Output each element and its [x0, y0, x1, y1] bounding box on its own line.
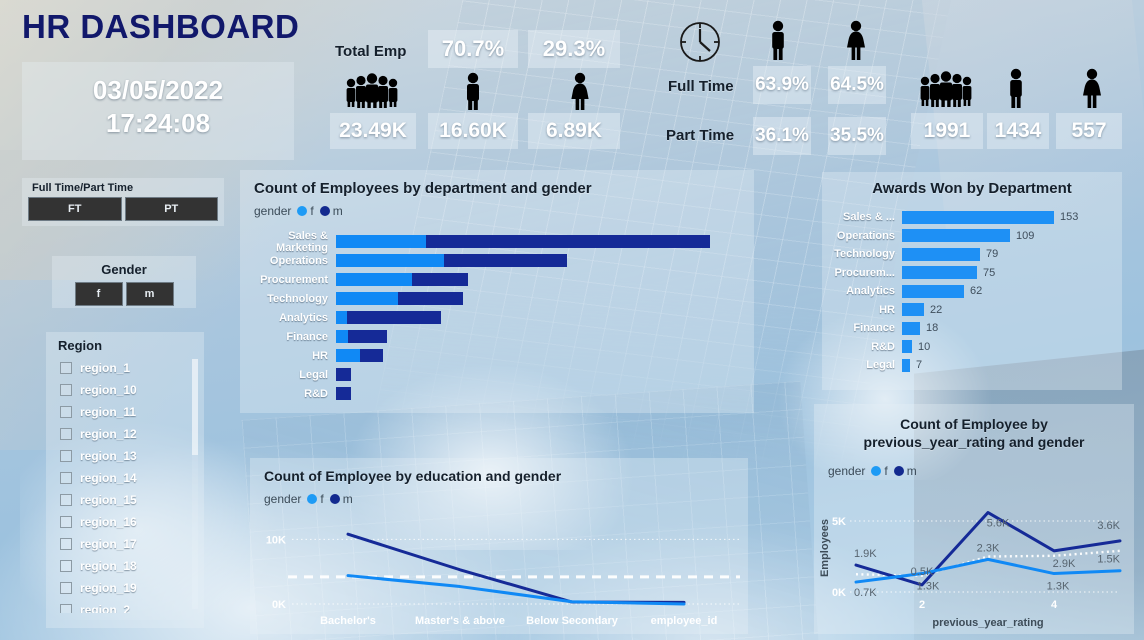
chart-awards-bar [902, 211, 1054, 224]
svg-text:1.3K: 1.3K [1047, 581, 1070, 593]
kpi-total-female: 6.89K [528, 113, 620, 149]
filter-region-title: Region [46, 332, 204, 353]
chart-dept-category-label: Analytics [240, 312, 336, 324]
female-person-icon-ftpt [843, 20, 869, 60]
region-label: region_16 [80, 515, 137, 529]
region-list-item[interactable]: region_13 [46, 445, 204, 467]
chart-dept-segment-female [336, 311, 347, 324]
filter-ftpt-title: Full Time/Part Time [22, 178, 224, 194]
clock-icon [676, 18, 724, 66]
svg-text:0K: 0K [832, 587, 846, 599]
region-checkbox[interactable] [60, 384, 72, 396]
region-list-item[interactable]: region_2 [46, 599, 204, 613]
chart-dept-bar [336, 349, 383, 362]
chart-dept-bar-row[interactable]: R&D [240, 384, 754, 403]
region-list-item[interactable]: region_17 [46, 533, 204, 555]
chart-dept-bar-row[interactable]: Legal [240, 365, 754, 384]
chart-awards-category-label: HR [822, 304, 902, 316]
region-list-item[interactable]: region_10 [46, 379, 204, 401]
region-list-item[interactable]: region_15 [46, 489, 204, 511]
svg-text:0.5K: 0.5K [911, 566, 934, 578]
region-checkbox[interactable] [60, 604, 72, 613]
filter-gender-buttons: f m [52, 277, 196, 306]
filter-gender: Gender f m [52, 256, 196, 308]
chart-dept-bar-row[interactable]: Analytics [240, 308, 754, 327]
svg-text:1.5K: 1.5K [1097, 554, 1120, 566]
chart-awards-bar [902, 248, 980, 261]
svg-text:employee_id: employee_id [651, 615, 718, 627]
chart-awards-bar [902, 359, 910, 372]
part-time-label: Part Time [666, 127, 734, 144]
svg-text:0K: 0K [272, 599, 286, 611]
kpi-total-all: 23.49K [330, 113, 416, 149]
filter-ftpt-buttons: FT PT [22, 194, 224, 221]
kpi-total-female-value: 6.89K [528, 113, 620, 149]
chart-dept-legend: gender f m [254, 204, 343, 218]
chart-awards-category-label: Finance [822, 322, 902, 334]
male-person-icon-ftpt [767, 20, 789, 60]
chart-dept-segment-male [336, 368, 351, 381]
region-label: region_19 [80, 581, 137, 595]
chart-awards-data-label: 18 [920, 322, 938, 334]
legend-dot-m [320, 206, 330, 216]
kpi-ft-male: 63.9% [753, 66, 811, 104]
full-time-label: Full Time [668, 78, 734, 95]
region-list-item[interactable]: region_16 [46, 511, 204, 533]
svg-text:2.3K: 2.3K [977, 542, 1000, 554]
chart-dept-segment-female [336, 254, 444, 267]
chart-awards-category-label: Legal [822, 359, 902, 371]
chart-dept-category-label: Operations [240, 255, 336, 267]
region-label: region_11 [80, 405, 136, 419]
chart-dept-segment-male [360, 349, 383, 362]
chart-dept-segment-male [336, 387, 351, 400]
kpi-pt-male-value: 36.1% [753, 117, 811, 155]
kpi-total-all-value: 23.49K [330, 113, 416, 149]
kpi-pct-female: 29.3% [528, 30, 620, 68]
region-checkbox[interactable] [60, 538, 72, 550]
region-checkbox[interactable] [60, 472, 72, 484]
chart-dept-bar [336, 311, 441, 324]
chart-awards-category-label: Procurem... [822, 267, 902, 279]
chart-awards-bar-row[interactable]: Operations109 [822, 227, 1122, 246]
chart-awards-bar [902, 285, 964, 298]
chart-awards-bar [902, 229, 1010, 242]
chart-awards-data-label: 79 [980, 248, 998, 260]
chart-dept-segment-male [412, 273, 468, 286]
total-emp-label: Total Emp [335, 43, 406, 60]
chart-awards-data-label: 22 [924, 304, 942, 316]
svg-text:Below Secondary: Below Secondary [526, 615, 619, 627]
chart-rating-plot: 0K5K1.9K0.5K5.6K2.9K3.6K0.7K1.3K2.3K1.3K… [814, 486, 1134, 634]
chart-dept-segment-female [336, 349, 360, 362]
region-label: region_15 [80, 493, 137, 507]
region-list-item[interactable]: region_14 [46, 467, 204, 489]
chart-awards-bar-row[interactable]: Procurem...75 [822, 264, 1122, 283]
legend-item-m[interactable]: m [330, 492, 353, 506]
slicer-ft[interactable]: FT [28, 197, 122, 221]
chart-dept-category-label: Legal [240, 369, 336, 381]
chart-awards-bar [902, 322, 920, 335]
kpi-ft-female: 64.5% [828, 66, 886, 104]
chart-awards-data-label: 153 [1054, 211, 1078, 223]
chart-dept-segment-male [426, 235, 710, 248]
svg-text:1.3K: 1.3K [917, 581, 940, 593]
chart-dept-segment-female [336, 292, 398, 305]
svg-text:0.7K: 0.7K [854, 587, 877, 599]
chart-edu-plot: 0K10KBachelor'sMaster's & aboveBelow Sec… [250, 514, 748, 634]
clock-date: 03/05/2022 [22, 75, 294, 106]
people-group-icon-awards [917, 68, 975, 108]
legend-text-m: m [343, 492, 353, 506]
region-label: region_1 [80, 361, 130, 375]
region-label: region_12 [80, 427, 137, 441]
people-group-icon [343, 72, 401, 108]
chart-awards-category-label: Operations [822, 230, 902, 242]
slicer-pt[interactable]: PT [125, 197, 219, 221]
chart-awards-bar [902, 266, 977, 279]
chart-awards-bar [902, 303, 924, 316]
kpi-awards-female-value: 557 [1056, 113, 1122, 149]
female-person-icon [568, 72, 592, 110]
clock-panel: 03/05/2022 17:24:08 [22, 62, 294, 160]
legend-item-f[interactable]: f [297, 204, 313, 218]
chart-awards-bar-row[interactable]: Analytics62 [822, 282, 1122, 301]
chart-awards-by-department: Awards Won by Department Sales & ...153O… [822, 172, 1122, 390]
page-title: HR DASHBOARD [22, 8, 299, 46]
chart-awards-category-label: R&D [822, 341, 902, 353]
legend-item-f[interactable]: f [871, 464, 887, 478]
chart-awards-bar-row[interactable]: Legal7 [822, 356, 1122, 375]
region-list-item[interactable]: region_18 [46, 555, 204, 577]
kpi-ft-female-value: 64.5% [828, 66, 886, 104]
svg-text:Employees: Employees [819, 519, 831, 577]
kpi-awards-all: 1991 [911, 113, 983, 149]
kpi-awards-female: 557 [1056, 113, 1122, 149]
kpi-awards-male-value: 1434 [987, 113, 1049, 149]
chart-awards-data-label: 10 [912, 341, 930, 353]
chart-rating-legend: gender f m [828, 464, 917, 478]
chart-dept-segment-male [347, 311, 441, 324]
region-checkbox[interactable] [60, 582, 72, 594]
legend-label: gender [264, 492, 301, 506]
chart-dept-bar [336, 235, 710, 248]
chart-dept-bar [336, 368, 351, 381]
chart-awards-bar [902, 340, 912, 353]
region-checkbox[interactable] [60, 450, 72, 462]
svg-text:Master's & above: Master's & above [415, 615, 505, 627]
chart-dept-bar [336, 254, 567, 267]
chart-dept-bar [336, 330, 387, 343]
slicer-gender-m[interactable]: m [126, 282, 174, 306]
chart-dept-bar-row[interactable]: HR [240, 346, 754, 365]
chart-rating-title: Count of Employee by previous_year_ratin… [814, 404, 1134, 451]
chart-awards-bar-row[interactable]: HR22 [822, 301, 1122, 320]
legend-label: gender [254, 204, 291, 218]
svg-text:previous_year_rating: previous_year_rating [932, 617, 1043, 629]
legend-dot-f [297, 206, 307, 216]
svg-text:5K: 5K [832, 516, 846, 528]
chart-awards-data-label: 7 [910, 359, 922, 371]
svg-text:2: 2 [919, 599, 925, 611]
chart-dept-segment-male [398, 292, 463, 305]
chart-dept-bar-row[interactable]: Sales & Marketing [240, 232, 754, 251]
region-checkbox[interactable] [60, 362, 72, 374]
chart-dept-title: Count of Employees by department and gen… [240, 170, 754, 197]
chart-awards-data-label: 75 [977, 267, 995, 279]
region-list-item[interactable]: region_11 [46, 401, 204, 423]
chart-awards-category-label: Technology [822, 248, 902, 260]
legend-item-f[interactable]: f [307, 492, 323, 506]
legend-dot-m [330, 494, 340, 504]
slicer-gender-f[interactable]: f [75, 282, 123, 306]
filter-gender-title: Gender [52, 256, 196, 277]
chart-awards-category-label: Sales & ... [822, 211, 902, 223]
chart-employees-by-rating: Count of Employee by previous_year_ratin… [814, 404, 1134, 634]
legend-dot-m [894, 466, 904, 476]
chart-dept-category-label: Finance [240, 331, 336, 343]
legend-item-m[interactable]: m [320, 204, 343, 218]
region-list-item[interactable]: region_1 [46, 357, 204, 379]
region-list[interactable]: region_1region_10region_11region_12regio… [46, 357, 204, 613]
region-list-item[interactable]: region_19 [46, 577, 204, 599]
chart-awards-bar-row[interactable]: Technology79 [822, 245, 1122, 264]
kpi-pct-male: 70.7% [428, 30, 518, 68]
chart-awards-bar-row[interactable]: Sales & ...153 [822, 208, 1122, 227]
chart-awards-category-label: Analytics [822, 285, 902, 297]
kpi-pct-female-value: 29.3% [528, 30, 620, 68]
chart-dept-bar-row[interactable]: Operations [240, 251, 754, 270]
legend-text-m: m [333, 204, 343, 218]
chart-awards-data-label: 109 [1010, 230, 1034, 242]
region-checkbox[interactable] [60, 560, 72, 572]
chart-dept-category-label: R&D [240, 388, 336, 400]
clock-time: 17:24:08 [22, 108, 294, 139]
kpi-awards-all-value: 1991 [911, 113, 983, 149]
chart-dept-bar-row[interactable]: Finance [240, 327, 754, 346]
kpi-pct-male-value: 70.7% [428, 30, 518, 68]
chart-dept-bar [336, 273, 468, 286]
region-label: region_10 [80, 383, 137, 397]
chart-awards-bar-row[interactable]: Finance18 [822, 319, 1122, 338]
svg-text:4: 4 [1051, 599, 1058, 611]
legend-text-f: f [310, 204, 313, 218]
chart-awards-title: Awards Won by Department [822, 172, 1122, 197]
chart-edu-title: Count of Employee by education and gende… [250, 458, 748, 484]
filter-region: Region region_1region_10region_11region_… [46, 332, 204, 628]
kpi-pt-male: 36.1% [753, 117, 811, 155]
region-scrollbar-thumb[interactable] [192, 359, 198, 455]
kpi-total-male: 16.60K [428, 113, 518, 149]
svg-text:Bachelor's: Bachelor's [320, 615, 376, 627]
chart-dept-category-label: HR [240, 350, 336, 362]
region-checkbox[interactable] [60, 406, 72, 418]
region-checkbox[interactable] [60, 428, 72, 440]
legend-text-f: f [884, 464, 887, 478]
legend-dot-f [871, 466, 881, 476]
legend-dot-f [307, 494, 317, 504]
filter-fulltime-parttime: Full Time/Part Time FT PT [22, 178, 224, 226]
legend-label: gender [828, 464, 865, 478]
chart-employees-by-education: Count of Employee by education and gende… [250, 458, 748, 634]
chart-dept-bar [336, 387, 351, 400]
chart-dept-bar [336, 292, 463, 305]
chart-dept-segment-female [336, 273, 412, 286]
region-label: region_2 [80, 603, 130, 613]
chart-dept-bar-row[interactable]: Technology [240, 289, 754, 308]
chart-employees-by-department: Count of Employees by department and gen… [240, 170, 754, 413]
legend-text-m: m [907, 464, 917, 478]
kpi-pt-female: 35.5% [828, 117, 886, 155]
male-person-icon-awards [1005, 68, 1027, 108]
chart-awards-data-label: 62 [964, 285, 982, 297]
chart-dept-category-label: Procurement [240, 274, 336, 286]
chart-dept-segment-male [444, 254, 567, 267]
kpi-total-male-value: 16.60K [428, 113, 518, 149]
chart-dept-segment-female [336, 330, 348, 343]
region-checkbox[interactable] [60, 516, 72, 528]
kpi-awards-male: 1434 [987, 113, 1049, 149]
region-checkbox[interactable] [60, 494, 72, 506]
svg-text:2.9K: 2.9K [1053, 558, 1076, 570]
chart-dept-bars: Sales & MarketingOperationsProcurementTe… [240, 232, 754, 403]
legend-text-f: f [320, 492, 323, 506]
chart-edu-legend: gender f m [264, 492, 353, 506]
svg-text:5.6K: 5.6K [987, 518, 1010, 530]
female-person-icon-awards [1079, 68, 1105, 108]
svg-text:1.9K: 1.9K [854, 548, 877, 560]
chart-dept-segment-female [336, 235, 426, 248]
legend-item-m[interactable]: m [894, 464, 917, 478]
chart-dept-bar-row[interactable]: Procurement [240, 270, 754, 289]
kpi-pt-female-value: 35.5% [828, 117, 886, 155]
region-label: region_17 [80, 537, 137, 551]
region-label: region_13 [80, 449, 137, 463]
chart-dept-category-label: Technology [240, 293, 336, 305]
region-list-item[interactable]: region_12 [46, 423, 204, 445]
svg-text:3.6K: 3.6K [1097, 520, 1120, 532]
chart-awards-bar-row[interactable]: R&D10 [822, 338, 1122, 357]
svg-text:10K: 10K [266, 534, 286, 546]
region-label: region_14 [80, 471, 137, 485]
chart-awards-bars: Sales & ...153Operations109Technology79P… [822, 208, 1122, 375]
chart-dept-segment-male [348, 330, 387, 343]
region-label: region_18 [80, 559, 137, 573]
kpi-ft-male-value: 63.9% [753, 66, 811, 104]
male-person-icon [462, 72, 484, 110]
chart-dept-category-label: Sales & Marketing [240, 230, 336, 254]
